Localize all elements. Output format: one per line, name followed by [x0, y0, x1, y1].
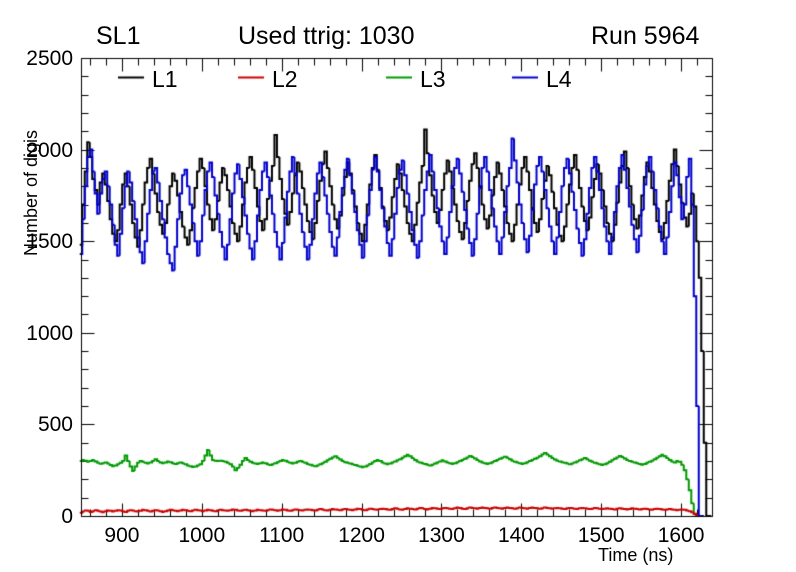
x-tick-label: 1600: [641, 524, 721, 548]
pad-title-right: Run 5964: [591, 24, 699, 49]
legend-label-l3: L3: [420, 66, 446, 93]
y-tick-label: 0: [3, 505, 73, 529]
x-tick-label: 1200: [322, 524, 402, 548]
x-tick-label: 900: [82, 524, 162, 548]
digis-vs-time-plot: [0, 0, 796, 572]
y-tick-label: 500: [3, 413, 73, 437]
pad-title-center: Used ttrig: 1030: [238, 24, 415, 49]
y-tick-label: 2000: [3, 139, 73, 163]
legend-label-l1: L1: [152, 66, 178, 93]
plot-canvas-container: SL1 Used ttrig: 1030 Run 5964 Number of …: [0, 0, 796, 572]
pad-title-left: SL1: [96, 24, 140, 49]
y-tick-label: 2500: [3, 47, 73, 71]
y-tick-label: 1000: [3, 322, 73, 346]
x-tick-label: 1500: [561, 524, 641, 548]
x-tick-label: 1000: [162, 524, 242, 548]
x-tick-label: 1300: [401, 524, 481, 548]
x-axis-title: Time (ns): [598, 546, 673, 564]
y-tick-label: 1500: [3, 230, 73, 254]
x-tick-label: 1400: [481, 524, 561, 548]
legend-label-l4: L4: [546, 66, 572, 93]
x-tick-label: 1100: [242, 524, 322, 548]
legend-label-l2: L2: [272, 66, 298, 93]
